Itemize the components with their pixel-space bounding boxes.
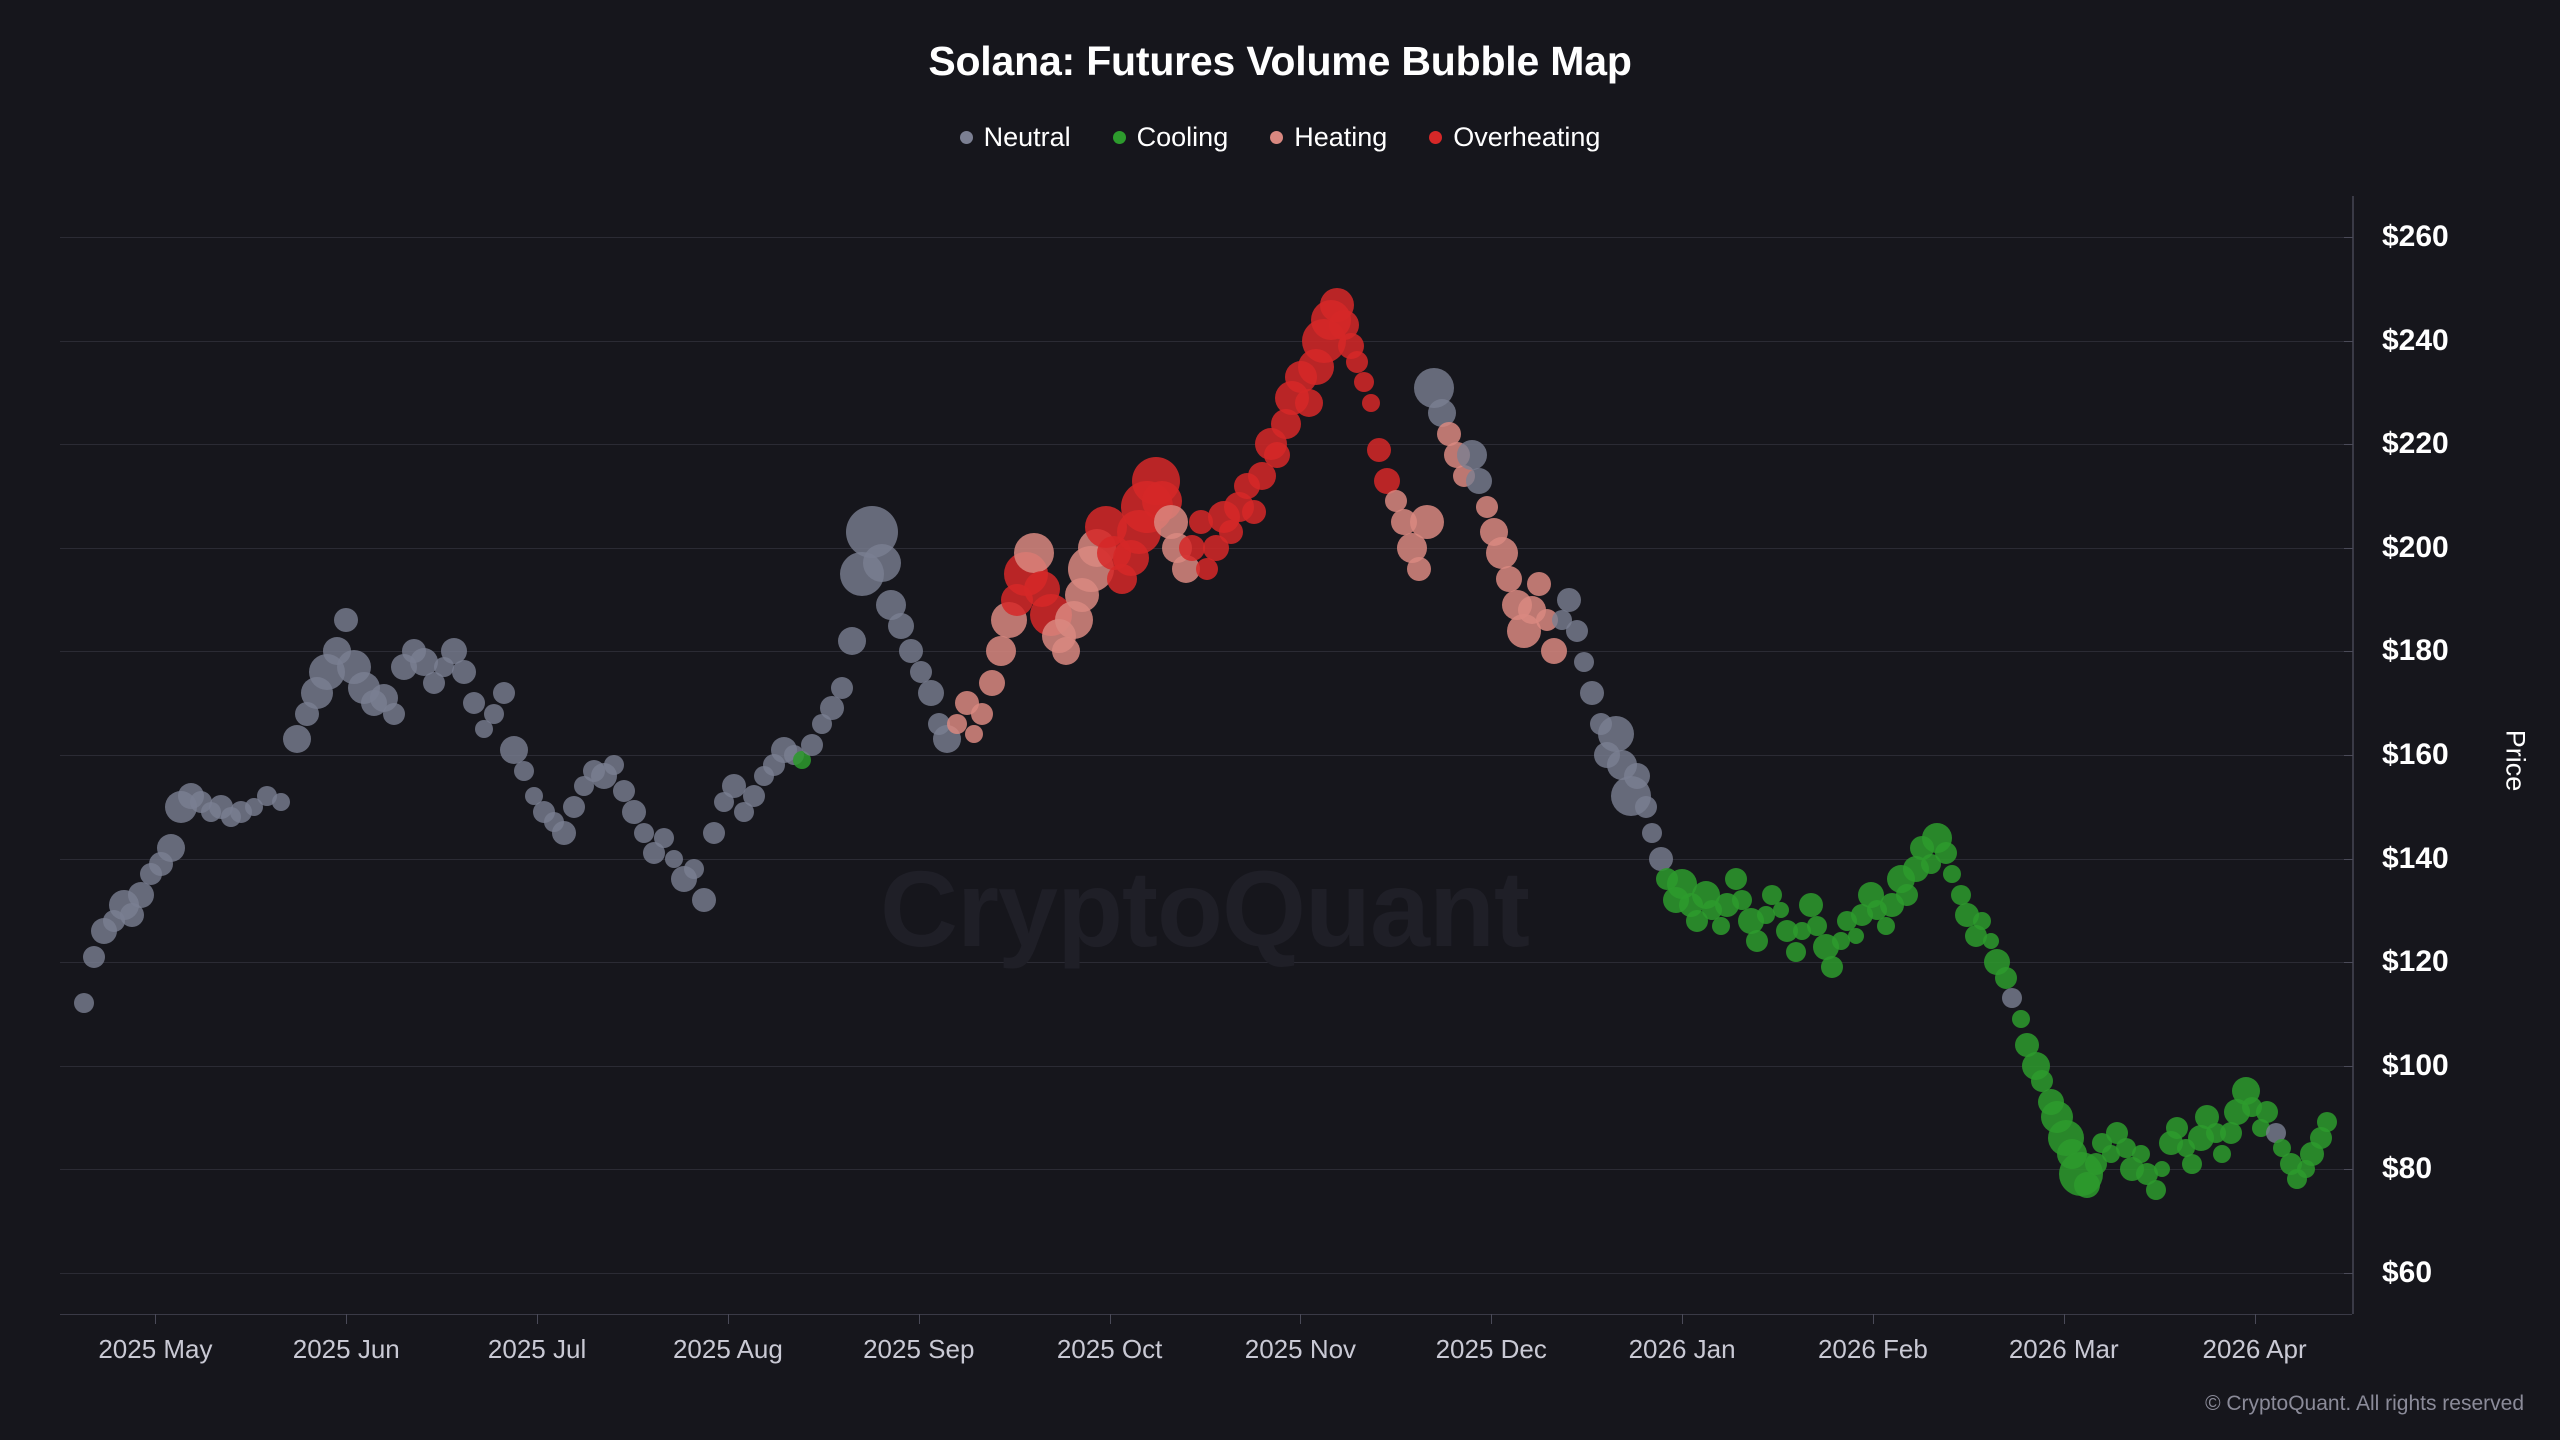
bubble-neutral[interactable]	[128, 882, 154, 908]
bubble-overheating[interactable]	[1219, 520, 1243, 544]
bubble-cooling[interactable]	[1725, 868, 1747, 890]
bubble-neutral[interactable]	[918, 680, 944, 706]
plot-area[interactable]: CryptoQuant	[60, 196, 2350, 1314]
x-tick-mark	[728, 1314, 729, 1324]
bubble-neutral[interactable]	[1580, 681, 1604, 705]
bubble-cooling[interactable]	[1799, 893, 1823, 917]
bubble-cooling[interactable]	[1973, 912, 1991, 930]
bubble-overheating[interactable]	[1196, 558, 1218, 580]
bubble-overheating[interactable]	[1346, 351, 1368, 373]
bubble-cooling[interactable]	[1712, 917, 1730, 935]
bubble-cooling[interactable]	[2012, 1010, 2030, 1028]
y-axis-tick-label: $140	[2382, 842, 2449, 876]
bubble-neutral[interactable]	[820, 696, 844, 720]
x-axis-tick-label: 2025 May	[98, 1334, 212, 1365]
bubble-neutral[interactable]	[684, 859, 704, 879]
x-tick-mark	[1682, 1314, 1683, 1324]
y-tick-mark	[2344, 859, 2353, 860]
bubble-cooling[interactable]	[1786, 942, 1806, 962]
legend-label: Cooling	[1137, 122, 1229, 153]
y-tick-mark	[2344, 1273, 2353, 1274]
x-axis-tick-label: 2025 Jul	[488, 1334, 586, 1365]
bubble-neutral[interactable]	[1642, 823, 1662, 843]
bubble-neutral[interactable]	[692, 888, 716, 912]
legend-dot-neutral-icon	[960, 131, 973, 144]
y-axis-title: Price	[2500, 730, 2531, 792]
bubble-neutral[interactable]	[743, 785, 765, 807]
bubble-heating[interactable]	[1527, 572, 1551, 596]
gridline	[60, 755, 2350, 756]
x-tick-mark	[2255, 1314, 2256, 1324]
bubble-neutral[interactable]	[622, 800, 646, 824]
x-tick-mark	[1491, 1314, 1492, 1324]
x-axis-line	[60, 1314, 2352, 1315]
bubble-cooling[interactable]	[2146, 1180, 2166, 1200]
bubble-cooling[interactable]	[1746, 930, 1768, 952]
bubble-neutral[interactable]	[74, 993, 94, 1013]
x-tick-mark	[346, 1314, 347, 1324]
bubble-heating[interactable]	[986, 636, 1016, 666]
gridline	[60, 1273, 2350, 1274]
x-axis-tick-label: 2025 Dec	[1436, 1334, 1547, 1365]
bubble-neutral[interactable]	[157, 834, 185, 862]
bubble-heating[interactable]	[1052, 637, 1080, 665]
bubble-neutral[interactable]	[801, 734, 823, 756]
bubble-neutral[interactable]	[831, 677, 853, 699]
y-axis-tick-label: $200	[2382, 531, 2449, 565]
y-axis-tick-label: $100	[2382, 1049, 2449, 1083]
y-tick-mark	[2344, 755, 2353, 756]
bubble-cooling[interactable]	[1821, 956, 1843, 978]
y-tick-mark	[2344, 651, 2353, 652]
legend-item-cooling[interactable]: Cooling	[1113, 122, 1229, 153]
gridline	[60, 444, 2350, 445]
bubble-neutral[interactable]	[1457, 440, 1487, 470]
x-tick-mark	[1110, 1314, 1111, 1324]
bubble-neutral[interactable]	[888, 613, 914, 639]
x-tick-mark	[2064, 1314, 2065, 1324]
bubble-cooling[interactable]	[1848, 928, 1864, 944]
bubble-neutral[interactable]	[1566, 620, 1588, 642]
bubble-heating[interactable]	[979, 670, 1005, 696]
x-axis-tick-label: 2026 Jan	[1629, 1334, 1736, 1365]
bubble-overheating[interactable]	[1179, 535, 1205, 561]
bubble-heating[interactable]	[1476, 496, 1498, 518]
x-axis-tick-label: 2025 Aug	[673, 1334, 783, 1365]
bubble-neutral[interactable]	[1624, 763, 1650, 789]
chart-root: Solana: Futures Volume Bubble Map Neutra…	[0, 0, 2560, 1440]
x-tick-mark	[919, 1314, 920, 1324]
x-tick-mark	[537, 1314, 538, 1324]
y-axis-tick-label: $160	[2382, 738, 2449, 772]
cryptoquant-watermark: CryptoQuant	[880, 846, 1529, 971]
bubble-heating[interactable]	[1014, 533, 1054, 573]
bubble-cooling[interactable]	[2256, 1101, 2278, 1123]
bubble-cooling[interactable]	[1943, 865, 1961, 883]
x-axis-tick-label: 2026 Feb	[1818, 1334, 1928, 1365]
x-axis-tick-label: 2026 Apr	[2203, 1334, 2307, 1365]
bubble-overheating[interactable]	[1295, 389, 1323, 417]
bubble-neutral[interactable]	[283, 725, 311, 753]
gridline	[60, 341, 2350, 342]
legend-label: Overheating	[1453, 122, 1600, 153]
bubble-cooling[interactable]	[1995, 967, 2017, 989]
legend-item-neutral[interactable]: Neutral	[960, 122, 1071, 153]
y-axis-tick-label: $260	[2382, 220, 2449, 254]
y-axis-tick-label: $120	[2382, 945, 2449, 979]
chart-legend: NeutralCoolingHeatingOverheating	[0, 122, 2560, 153]
bubble-cooling[interactable]	[1896, 884, 1918, 906]
bubble-neutral[interactable]	[634, 823, 654, 843]
legend-dot-cooling-icon	[1113, 131, 1126, 144]
bubble-neutral[interactable]	[665, 850, 683, 868]
gridline	[60, 1066, 2350, 1067]
legend-item-overheating[interactable]: Overheating	[1429, 122, 1600, 153]
bubble-neutral[interactable]	[493, 682, 515, 704]
x-axis-tick-label: 2025 Jun	[293, 1334, 400, 1365]
legend-label: Heating	[1294, 122, 1387, 153]
bubble-overheating[interactable]	[1242, 500, 1266, 524]
copyright-notice: © CryptoQuant. All rights reserved	[2205, 1392, 2524, 1416]
bubble-neutral[interactable]	[383, 703, 405, 725]
bubble-cooling[interactable]	[2317, 1112, 2337, 1132]
bubble-neutral[interactable]	[1598, 716, 1634, 752]
y-tick-mark	[2344, 341, 2353, 342]
y-axis-tick-label: $60	[2382, 1256, 2432, 1290]
bubble-cooling[interactable]	[1773, 902, 1789, 918]
bubble-neutral[interactable]	[83, 946, 105, 968]
bubble-cooling[interactable]	[2154, 1161, 2170, 1177]
bubble-neutral[interactable]	[463, 692, 485, 714]
bubble-overheating[interactable]	[1264, 442, 1290, 468]
bubble-heating[interactable]	[1541, 638, 1567, 664]
y-tick-mark	[2344, 1066, 2353, 1067]
legend-label: Neutral	[984, 122, 1071, 153]
x-axis-tick-label: 2025 Oct	[1057, 1334, 1163, 1365]
bubble-neutral[interactable]	[604, 755, 624, 775]
bubble-heating[interactable]	[1407, 557, 1431, 581]
bubble-neutral[interactable]	[703, 822, 725, 844]
bubble-heating[interactable]	[1496, 566, 1522, 592]
bubble-cooling[interactable]	[1983, 933, 1999, 949]
bubble-neutral[interactable]	[863, 544, 901, 582]
legend-dot-overheating-icon	[1429, 131, 1442, 144]
bubble-neutral[interactable]	[613, 780, 635, 802]
bubble-neutral[interactable]	[334, 608, 358, 632]
bubble-cooling[interactable]	[1935, 842, 1957, 864]
bubble-neutral[interactable]	[838, 627, 866, 655]
bubble-neutral[interactable]	[272, 793, 290, 811]
y-axis-tick-label: $180	[2382, 634, 2449, 668]
bubble-cooling[interactable]	[2220, 1122, 2242, 1144]
gridline	[60, 237, 2350, 238]
bubble-neutral[interactable]	[899, 639, 923, 663]
y-tick-mark	[2344, 237, 2353, 238]
gridline	[60, 859, 2350, 860]
bubble-neutral[interactable]	[654, 828, 674, 848]
x-axis-tick-label: 2025 Nov	[1245, 1334, 1356, 1365]
y-tick-mark	[2344, 1169, 2353, 1170]
bubble-neutral[interactable]	[484, 704, 504, 724]
bubble-cooling[interactable]	[2182, 1154, 2202, 1174]
x-axis-tick-label: 2026 Mar	[2009, 1334, 2119, 1365]
x-axis-tick-label: 2025 Sep	[863, 1334, 974, 1365]
bubble-heating[interactable]	[965, 725, 983, 743]
bubble-cooling[interactable]	[2074, 1172, 2100, 1198]
x-tick-mark	[1873, 1314, 1874, 1324]
bubble-heating[interactable]	[1410, 505, 1444, 539]
bubble-neutral[interactable]	[1649, 847, 1673, 871]
bubble-neutral[interactable]	[1557, 588, 1581, 612]
y-tick-mark	[2344, 962, 2353, 963]
y-axis-tick-label: $80	[2382, 1152, 2432, 1186]
bubble-neutral[interactable]	[514, 761, 534, 781]
bubble-neutral[interactable]	[2002, 988, 2022, 1008]
bubble-neutral[interactable]	[552, 821, 576, 845]
bubble-cooling[interactable]	[2132, 1145, 2150, 1163]
x-tick-mark	[1300, 1314, 1301, 1324]
y-axis-tick-label: $220	[2382, 427, 2449, 461]
page-title: Solana: Futures Volume Bubble Map	[0, 38, 2560, 85]
legend-dot-heating-icon	[1270, 131, 1283, 144]
bubble-neutral[interactable]	[452, 660, 476, 684]
bubble-neutral[interactable]	[1574, 652, 1594, 672]
x-tick-mark	[155, 1314, 156, 1324]
bubble-heating[interactable]	[971, 703, 993, 725]
bubble-overheating[interactable]	[1354, 372, 1374, 392]
y-tick-mark	[2344, 444, 2353, 445]
bubble-neutral[interactable]	[1635, 796, 1657, 818]
bubble-cooling[interactable]	[2166, 1117, 2188, 1139]
y-tick-mark	[2344, 548, 2353, 549]
y-axis-tick-label: $240	[2382, 324, 2449, 358]
bubble-overheating[interactable]	[1362, 394, 1380, 412]
bubble-heating[interactable]	[1486, 537, 1518, 569]
bubble-cooling[interactable]	[1877, 917, 1895, 935]
bubble-cooling[interactable]	[1951, 885, 1971, 905]
bubble-overheating[interactable]	[1367, 438, 1391, 462]
bubble-neutral[interactable]	[1466, 468, 1492, 494]
bubble-neutral[interactable]	[563, 796, 585, 818]
gridline	[60, 1169, 2350, 1170]
legend-item-heating[interactable]: Heating	[1270, 122, 1387, 153]
bubble-cooling[interactable]	[2213, 1145, 2231, 1163]
